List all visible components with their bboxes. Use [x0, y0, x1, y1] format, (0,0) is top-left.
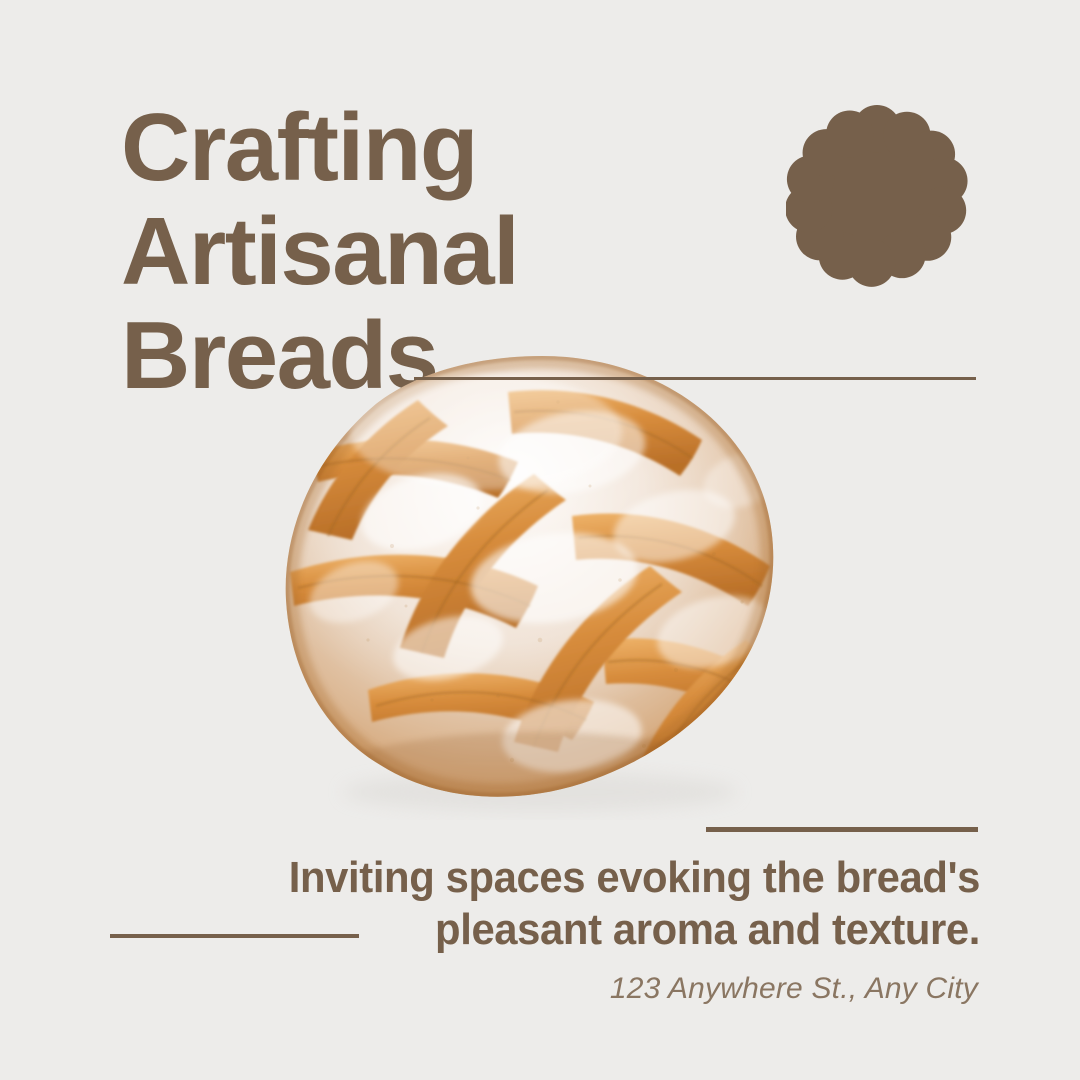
divider-top: [414, 377, 976, 380]
scalloped-flower-badge-icon: [786, 104, 968, 288]
address-line: 123 Anywhere St., Any City: [180, 970, 978, 1008]
poster-canvas: Crafting Artisanal Breads: [0, 0, 1080, 1080]
subtitle: Inviting spaces evoking the bread's plea…: [163, 852, 980, 956]
headline-line-1: Crafting: [121, 96, 761, 200]
subtitle-line-1: Inviting spaces evoking the bread's: [163, 852, 980, 904]
headline-line-2: Artisanal: [121, 200, 761, 304]
bread-photo: [272, 340, 812, 820]
subtitle-line-2: pleasant aroma and texture.: [163, 904, 980, 956]
divider-middle: [706, 827, 978, 832]
